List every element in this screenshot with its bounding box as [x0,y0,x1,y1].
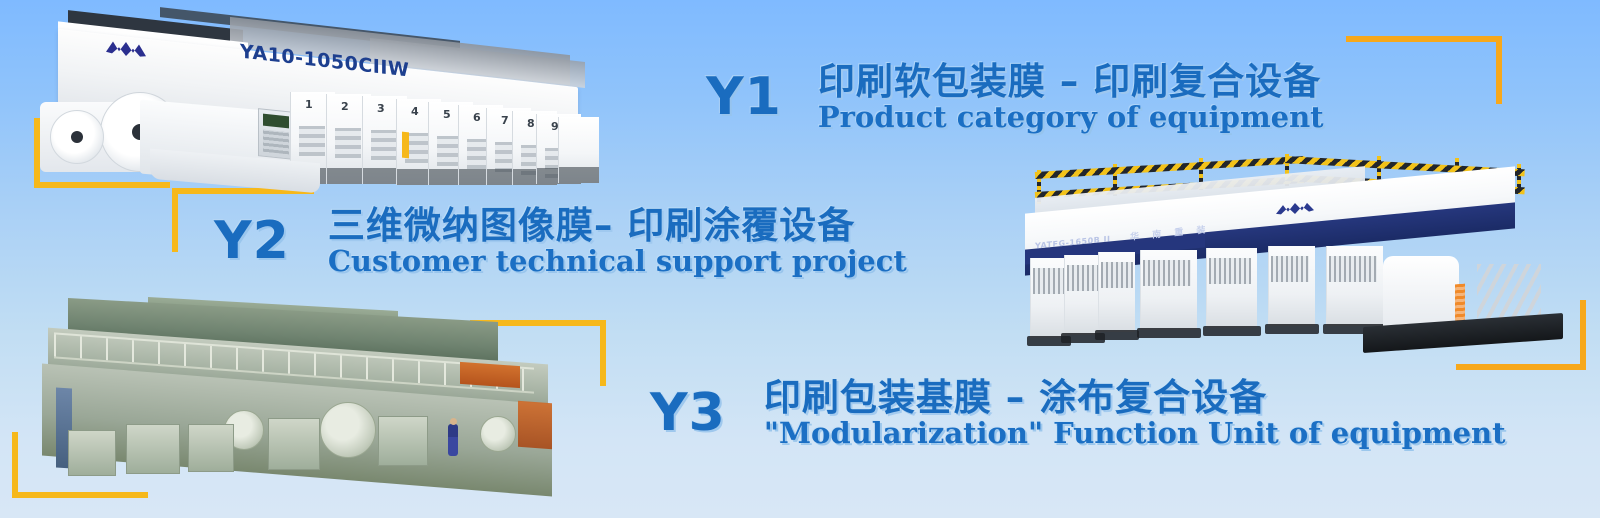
bracket-top-right-horizontal [1346,36,1502,42]
product-heading-cn-y1: 印刷软包装膜 – 印刷复合设备 [818,62,1324,102]
product-heading-cn-y2: 三维微纳图像膜– 印刷涂覆设备 [328,206,907,246]
board-machine-cabinet [68,430,116,476]
bracket-top-right-vertical [1496,36,1502,104]
press-printing-units: 1 2 3 4 5 6 7 [290,92,590,188]
board-machine-cabinet [188,424,234,472]
operator-figure [448,424,458,456]
board-machine-orange-unit-2 [518,401,552,449]
bracket-mid-left-vertical [172,188,178,252]
unit-number: 6 [473,111,481,124]
product-labels-y3: 印刷包装基膜 – 涂布复合设备 "Modularization" Functio… [764,378,1506,448]
press-film-reel-secondary [50,110,104,164]
product-code-y3: Y3 [650,383,726,443]
unit-number: 3 [377,102,385,115]
unit-number: 2 [341,100,349,113]
board-machine-orange-unit [460,362,520,388]
coating-station [1064,255,1101,335]
machine-image-coating-line: YATFG-1650B II 华 南 重 装 [985,160,1565,360]
product-entry-y3: Y3 印刷包装基膜 – 涂布复合设备 "Modularization" Func… [650,378,1506,448]
printing-unit-end [558,117,599,183]
bracket-mid-center-vertical [600,320,606,386]
machine-image-board-machine [28,306,576,488]
product-entry-y1: Y1 印刷软包装膜 – 印刷复合设备 Product category of e… [706,62,1324,132]
unit-number: 8 [527,117,535,130]
press-yellow-marker [402,132,409,159]
coating-dryer [1140,250,1197,330]
product-entry-y2: Y2 三维微纳图像膜– 印刷涂覆设备 Customer technical su… [214,206,907,276]
unit-number: 1 [305,98,313,111]
coating-access-stair [1477,264,1541,320]
board-machine-cabinet [126,424,180,474]
coating-station [1030,258,1067,338]
product-labels-y1: 印刷软包装膜 – 印刷复合设备 Product category of equi… [818,62,1324,132]
board-machine-drum [480,416,516,452]
product-heading-en-y3: "Modularization" Function Unit of equipm… [764,418,1506,448]
board-machine-cabinet [268,418,320,470]
bracket-bottom-right-vertical [1580,300,1586,370]
product-labels-y2: 三维微纳图像膜– 印刷涂覆设备 Customer technical suppo… [328,206,907,276]
board-machine-drum [320,402,376,458]
bracket-bottom-left-horizontal [12,492,148,498]
coating-dryer [1326,246,1383,326]
machine-image-rotogravure-press: YA10-1050CIIW 1 2 3 4 [40,6,600,186]
coating-dryer [1206,248,1257,328]
product-heading-en-y1: Product category of equipment [818,102,1324,132]
coating-control-cabinet [1268,246,1315,326]
coating-station [1098,252,1135,332]
coating-rewind-unit [1383,256,1459,330]
product-code-y1: Y1 [706,67,782,127]
unit-number: 5 [443,108,451,121]
product-code-y2: Y2 [214,211,290,271]
bracket-bottom-right-horizontal [1456,364,1586,370]
product-heading-cn-y3: 印刷包装基膜 – 涂布复合设备 [764,378,1506,418]
unit-number: 4 [411,105,419,118]
unit-number: 7 [501,114,509,127]
board-machine-cabinet [378,416,428,466]
promotional-banner: YA10-1050CIIW 1 2 3 4 [0,0,1600,518]
bracket-bottom-left-vertical [12,432,18,498]
press-operator-panel [258,108,294,160]
product-heading-en-y2: Customer technical support project [328,246,907,276]
